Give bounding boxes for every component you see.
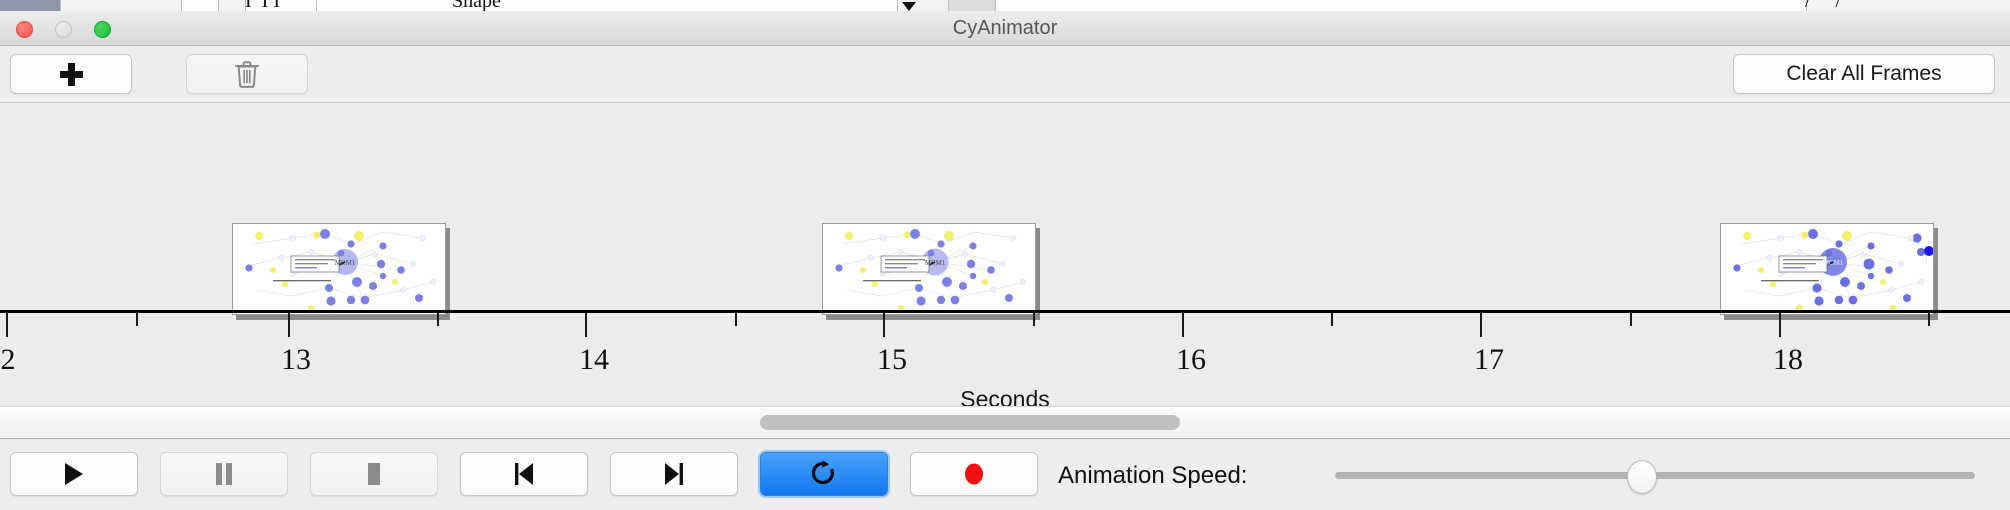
timeline-frame[interactable]: MCM1 xyxy=(1720,223,1934,315)
axis-tick-minor xyxy=(1928,313,1930,326)
axis-tick-minor xyxy=(1033,313,1035,326)
axis-tick-label: 2 xyxy=(1,343,16,377)
animation-speed-thumb[interactable] xyxy=(1627,460,1657,494)
prev-frame-button[interactable] xyxy=(460,452,588,496)
record-icon xyxy=(961,460,987,488)
axis-tick-major xyxy=(6,313,8,337)
network-graph-icon: MCM1 xyxy=(1721,224,1933,314)
axis-tick-minor xyxy=(1331,313,1333,326)
axis-tick-major xyxy=(1182,313,1184,337)
stop-button[interactable] xyxy=(310,452,438,496)
playback-controls: Animation Speed: xyxy=(0,440,2010,510)
timeline-scrollbar[interactable] xyxy=(0,406,2010,439)
bg-tab-2 xyxy=(182,0,219,11)
stop-icon xyxy=(362,460,386,488)
animation-speed-label: Animation Speed: xyxy=(1058,462,1247,490)
axis-tick-label: 16 xyxy=(1176,343,1206,377)
bg-tab-5 xyxy=(317,0,898,11)
trash-icon xyxy=(233,59,261,89)
loop-icon xyxy=(811,460,837,488)
axis-tick-label: 17 xyxy=(1474,343,1504,377)
clear-all-frames-button[interactable]: Clear All Frames xyxy=(1733,54,1995,94)
axis-tick-major xyxy=(883,313,885,337)
axis-tick-label: 18 xyxy=(1773,343,1803,377)
cyanimator-window: I I I Shape / / CyAnimator Clear All Fra… xyxy=(0,0,2010,510)
plus-icon xyxy=(59,62,83,86)
play-icon xyxy=(61,460,87,488)
delete-frame-button[interactable] xyxy=(186,54,308,94)
toolbar: Clear All Frames xyxy=(0,46,2010,103)
network-graph-icon: MCM1 xyxy=(233,224,445,314)
loop-button[interactable] xyxy=(760,452,888,496)
axis-tick-minor xyxy=(437,313,439,326)
frame-thumbnail: MCM1 xyxy=(822,223,1036,315)
axis-tick-major xyxy=(585,313,587,337)
frame-thumbnail: MCM1 xyxy=(232,223,446,315)
bg-tab-0 xyxy=(0,0,61,11)
play-button[interactable] xyxy=(10,452,138,496)
axis-tick-label: 15 xyxy=(877,343,907,377)
add-frame-button[interactable] xyxy=(10,54,132,94)
axis-title: Seconds xyxy=(0,386,2010,406)
clear-all-frames-label: Clear All Frames xyxy=(1786,62,1941,86)
timeline-panel[interactable]: MCM1 xyxy=(0,103,2010,406)
center-node-label: MCM1 xyxy=(335,259,356,267)
axis-tick-major xyxy=(1480,313,1482,337)
axis-tick-minor xyxy=(1630,313,1632,326)
timeline-axis xyxy=(0,310,2010,313)
bg-tab-7 xyxy=(949,0,996,11)
pause-icon xyxy=(212,460,236,488)
bg-tab-8 xyxy=(996,0,1807,11)
next-frame-button[interactable] xyxy=(610,452,738,496)
axis-tick-major xyxy=(288,313,290,337)
axis-tick-major xyxy=(1779,313,1781,337)
frame-thumbnail: MCM1 xyxy=(1720,223,1934,315)
skip-forward-icon xyxy=(661,460,687,488)
bg-tab-3 xyxy=(219,0,246,11)
scrollbar-thumb[interactable] xyxy=(760,415,1180,430)
timeline-frame[interactable]: MCM1 xyxy=(822,223,1036,315)
record-button[interactable] xyxy=(910,452,1038,496)
bg-notch-icon xyxy=(902,2,916,11)
skip-back-icon xyxy=(511,460,537,488)
axis-tick-label: 14 xyxy=(579,343,609,377)
axis-tick-minor xyxy=(735,313,737,326)
pause-button[interactable] xyxy=(160,452,288,496)
axis-tick-minor xyxy=(136,313,138,326)
axis-tick-label: 13 xyxy=(281,343,311,377)
window-title: CyAnimator xyxy=(0,11,2010,45)
center-node-label: MCM1 xyxy=(925,259,946,267)
bg-tab-1 xyxy=(61,0,182,11)
center-node-label: MCM1 xyxy=(1823,259,1844,267)
timeline-frame[interactable]: MCM1 xyxy=(232,223,446,315)
titlebar: CyAnimator xyxy=(0,11,2010,46)
network-graph-icon: MCM1 xyxy=(823,224,1035,314)
